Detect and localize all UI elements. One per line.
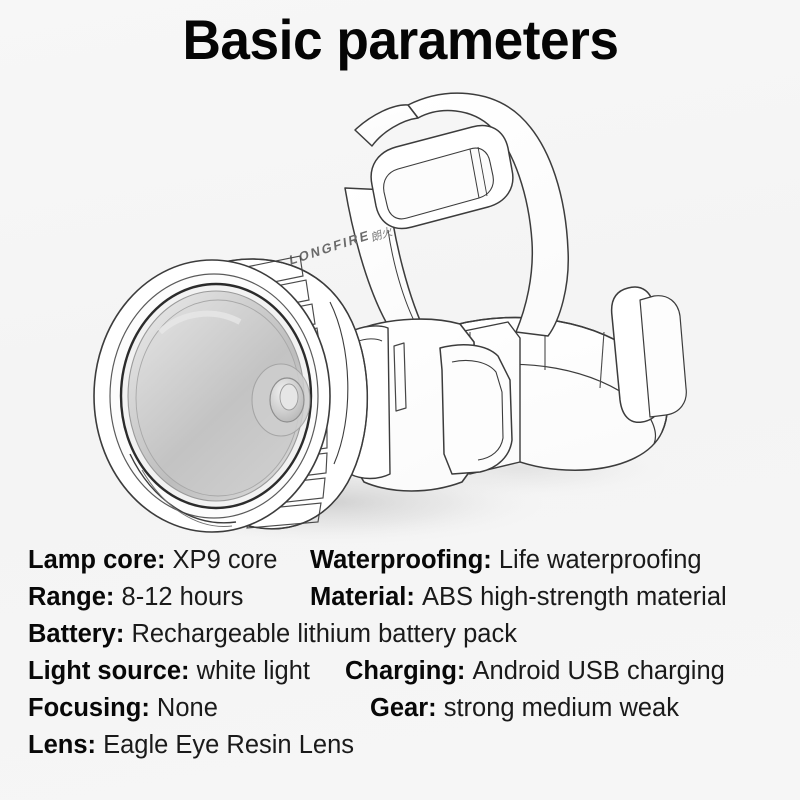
spec-value: Eagle Eye Resin Lens (103, 731, 354, 759)
spec-value: strong medium weak (444, 694, 679, 722)
spec-row: Range: 8-12 hours Material: ABS high-str… (0, 580, 800, 617)
housing-side-panel (440, 345, 512, 474)
spec-item-lens: Lens: Eagle Eye Resin Lens (28, 728, 354, 762)
spec-item-range: Range: 8-12 hours (28, 580, 243, 614)
spec-value: XP9 core (173, 546, 278, 574)
spec-label: Waterproofing: (310, 546, 499, 574)
spec-list: Lamp core: XP9 core Waterproofing: Life … (0, 543, 800, 788)
spec-value: Android USB charging (473, 657, 725, 685)
spec-label: Lamp core: (28, 546, 173, 574)
spec-value: None (157, 694, 218, 722)
spec-row: Lamp core: XP9 core Waterproofing: Life … (0, 543, 800, 580)
spec-item-light-source: Light source: white light (28, 654, 310, 688)
spec-item-gear: Gear: strong medium weak (370, 691, 679, 725)
product-illustration: LONGFIRE 朗火 (0, 70, 800, 550)
spec-label: Range: (28, 583, 122, 611)
spec-item-focusing: Focusing: None (28, 691, 218, 725)
spec-label: Lens: (28, 731, 103, 759)
spec-item-material: Material: ABS high-strength material (310, 580, 727, 614)
headlamp-drawing: LONGFIRE 朗火 (0, 70, 800, 550)
spec-item-waterproofing: Waterproofing: Life waterproofing (310, 543, 702, 577)
product-spec-page: Basic parameters (0, 0, 800, 800)
spec-label: Battery: (28, 620, 131, 648)
spec-label: Material: (310, 583, 422, 611)
spec-label: Focusing: (28, 694, 157, 722)
spec-label: Gear: (370, 694, 444, 722)
spec-item-battery: Battery: Rechargeable lithium battery pa… (28, 617, 517, 651)
spec-row: Lens: Eagle Eye Resin Lens (0, 728, 800, 765)
spec-value: Rechargeable lithium battery pack (131, 620, 517, 648)
strap-keeper-loop (612, 287, 687, 422)
spec-value: ABS high-strength material (422, 583, 727, 611)
page-title: Basic parameters (182, 8, 618, 72)
spec-row: Focusing: None Gear: strong medium weak (0, 691, 800, 728)
spec-value: Life waterproofing (499, 546, 702, 574)
spec-row: Light source: white light Charging: Andr… (0, 654, 800, 691)
spec-item-lamp-core: Lamp core: XP9 core (28, 543, 277, 577)
spec-label: Light source: (28, 657, 197, 685)
led-emitter (252, 364, 310, 436)
spec-item-charging: Charging: Android USB charging (345, 654, 725, 688)
page-title-container: Basic parameters (0, 8, 800, 72)
strap-buckle (371, 126, 513, 229)
spec-value: white light (197, 657, 310, 685)
spec-label: Charging: (345, 657, 473, 685)
spec-row: Battery: Rechargeable lithium battery pa… (0, 617, 800, 654)
spec-value: 8-12 hours (122, 583, 244, 611)
